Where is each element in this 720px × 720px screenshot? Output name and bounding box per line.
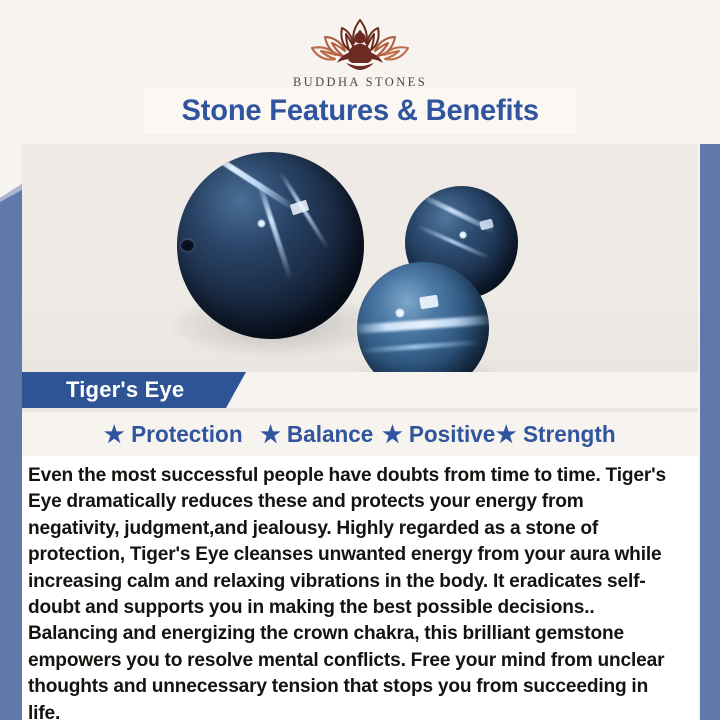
left-accent-bar bbox=[0, 184, 22, 720]
page-title: Stone Features & Benefits bbox=[181, 94, 538, 128]
page-title-banner: Stone Features & Benefits bbox=[144, 88, 576, 134]
star-icon: ★ bbox=[382, 423, 403, 446]
brand-logo: BUDDHA STONES bbox=[0, 14, 720, 90]
benefit-balance: ★ Balance bbox=[260, 421, 374, 448]
description-text: Even the most successful people have dou… bbox=[28, 462, 676, 720]
lotus-meditation-icon bbox=[296, 14, 424, 74]
benefit-positive: ★ Positive bbox=[382, 421, 496, 448]
benefits-row: ★ Protection ★ Balance ★ Positive ★ Stre… bbox=[22, 412, 698, 456]
gemstone-sphere-large bbox=[177, 152, 364, 339]
stone-name-tag: Tiger's Eye bbox=[22, 372, 246, 408]
benefit-strength: ★ Strength bbox=[496, 421, 616, 448]
infographic-page: BUDDHA STONES Stone Features & Benefits bbox=[0, 0, 720, 720]
benefit-label: Balance bbox=[287, 421, 373, 448]
stone-name-label: Tiger's Eye bbox=[66, 377, 184, 403]
product-photo bbox=[22, 144, 698, 372]
header: BUDDHA STONES Stone Features & Benefits bbox=[0, 0, 720, 144]
star-icon: ★ bbox=[104, 423, 125, 446]
star-icon: ★ bbox=[496, 423, 517, 446]
benefit-label: Protection bbox=[131, 421, 242, 448]
star-icon: ★ bbox=[260, 423, 281, 446]
benefit-label: Positive bbox=[409, 421, 495, 448]
description-panel: Even the most successful people have dou… bbox=[22, 456, 698, 720]
benefit-protection: ★ Protection bbox=[104, 421, 243, 448]
benefit-label: Strength bbox=[522, 421, 615, 448]
